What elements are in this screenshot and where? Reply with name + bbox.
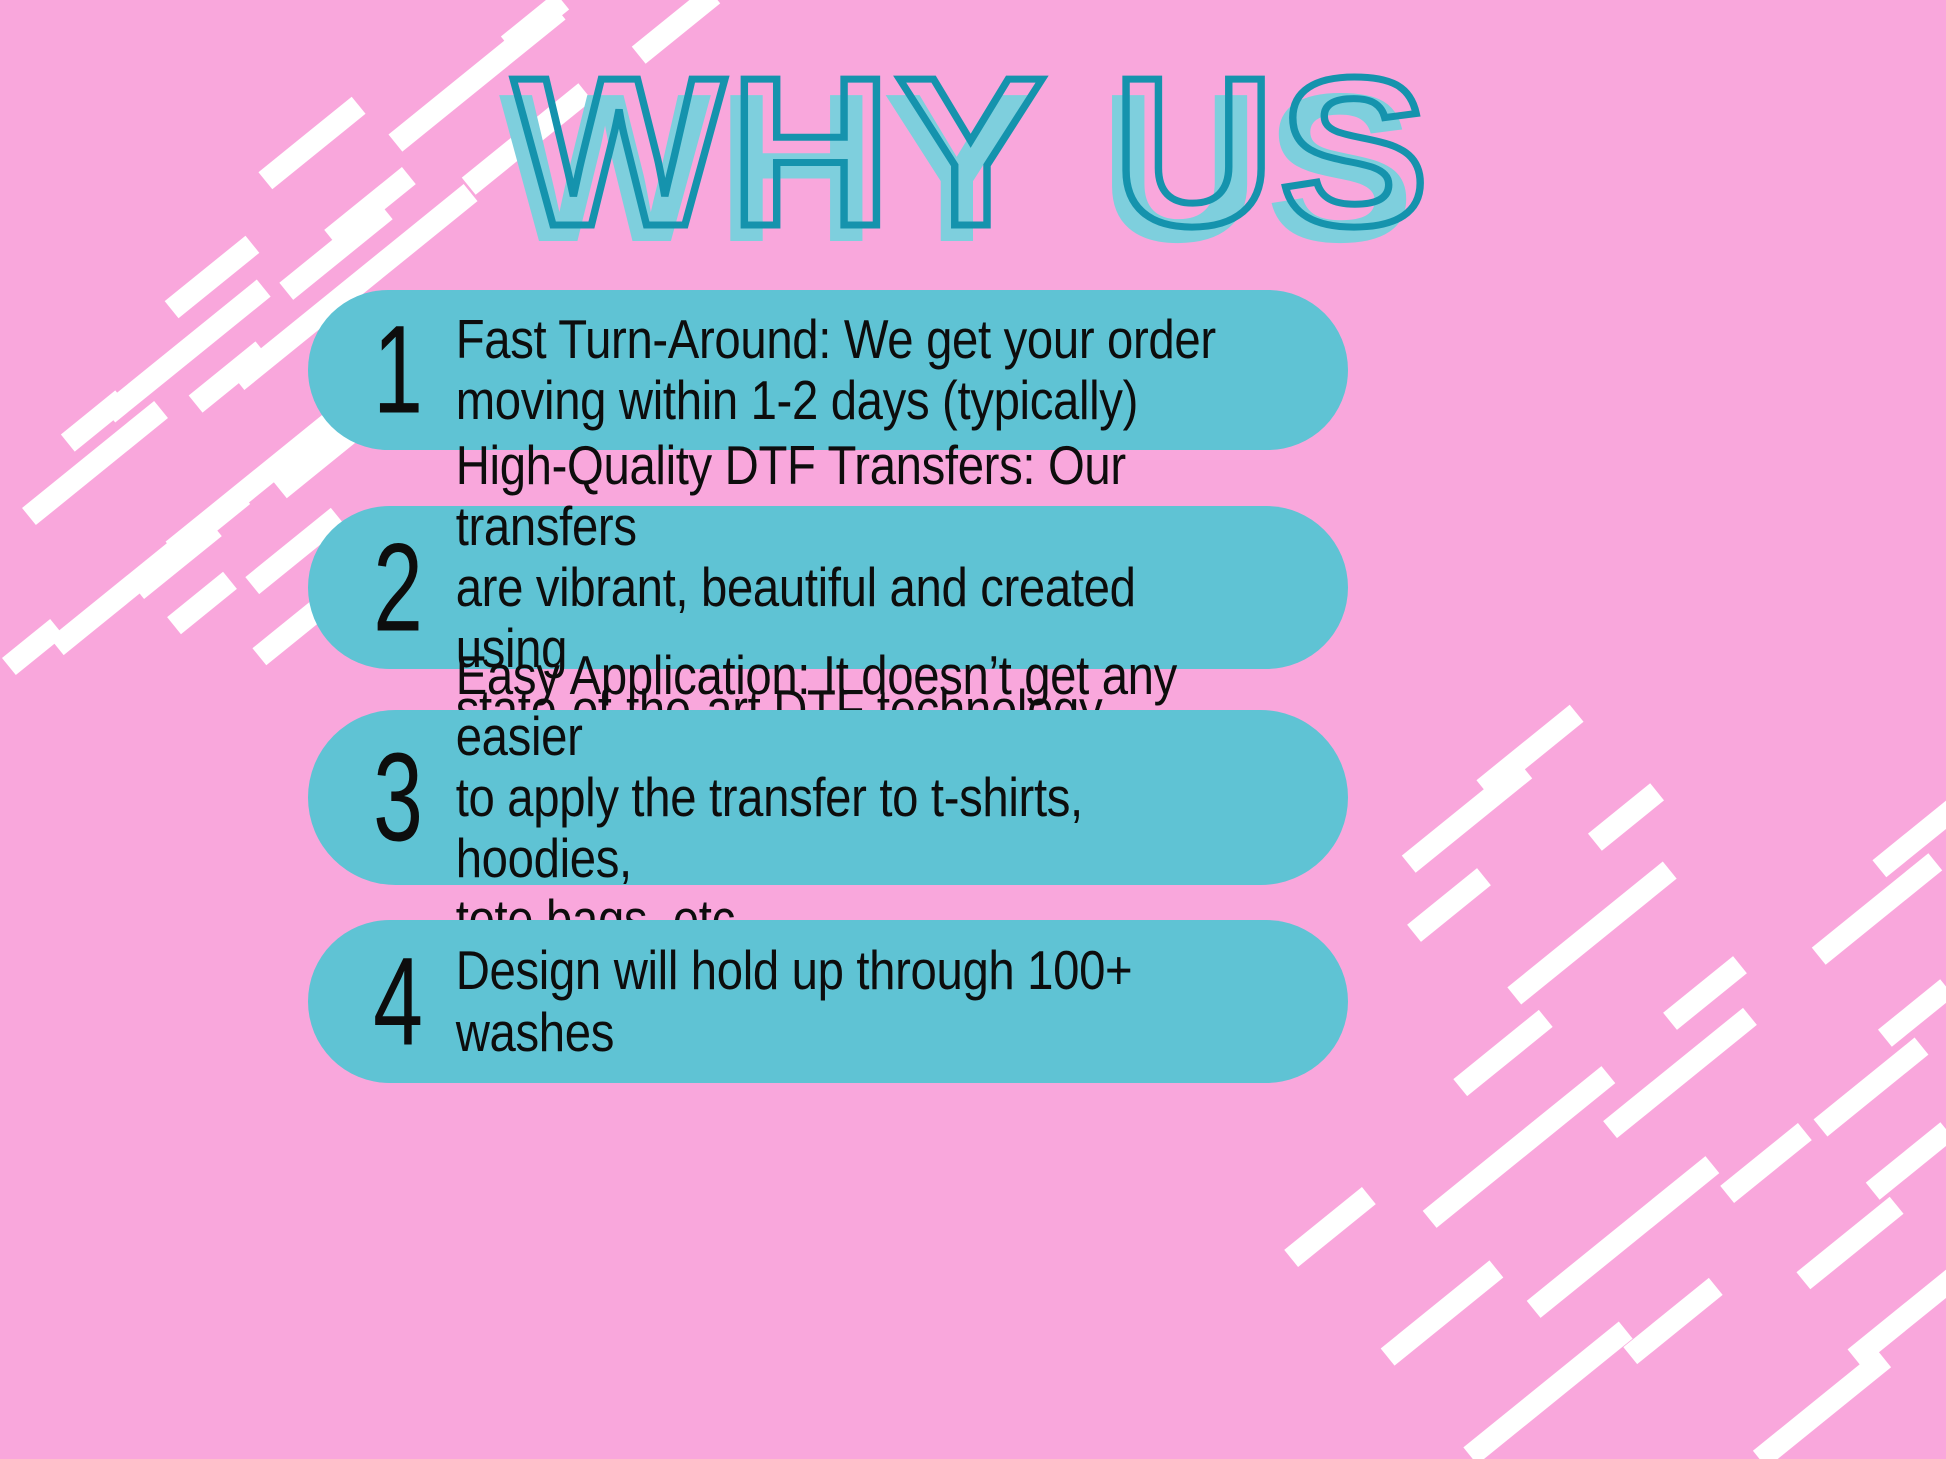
stripe-dash <box>1848 1268 1946 1367</box>
stripe-dash <box>1507 862 1676 1005</box>
stripe-dash <box>1720 1123 1812 1203</box>
list-item: 4 Design will hold up through 100+ washe… <box>308 920 1348 1083</box>
stripe-dash <box>324 167 416 247</box>
stripe-dash <box>1866 1122 1946 1200</box>
stripe-dash <box>632 0 720 64</box>
stripe-dash <box>22 401 168 525</box>
stripe-dash <box>1812 853 1942 964</box>
list-item-text: Fast Turn-Around: We get your order movi… <box>454 309 1216 431</box>
stripe-dash <box>130 519 222 599</box>
list-item-text: Easy Application: It doesn’t get any eas… <box>454 645 1223 950</box>
poster-canvas: WHY US WHY US 1 Fast Turn-Around: We get… <box>0 0 1946 1459</box>
stripe-dash <box>166 403 351 559</box>
stripe-dash <box>165 236 260 319</box>
stripe-dash <box>1878 979 1946 1046</box>
list-item-number: 3 <box>353 735 443 860</box>
page-title-shadow: WHY US <box>499 62 1419 274</box>
stripe-dash <box>388 2 565 151</box>
stripe-dash <box>167 572 237 634</box>
stripe-dash <box>2 619 64 675</box>
page-title: WHY US WHY US <box>0 46 1946 258</box>
stripe-dash <box>1453 1010 1552 1096</box>
stripe-dash <box>50 487 250 655</box>
stripe-dash <box>1407 868 1491 942</box>
stripe-dash <box>1663 956 1747 1030</box>
list-item-text: Design will hold up through 100+ washes <box>454 940 1223 1062</box>
stripe-dash <box>101 280 270 423</box>
page-title-text: WHY US <box>513 46 1433 258</box>
list-item-number: 2 <box>353 525 443 650</box>
stripe-dash <box>1814 1038 1929 1137</box>
stripe-dash <box>1872 785 1946 878</box>
stripe-dash <box>1623 1278 1722 1364</box>
stripe-dash <box>189 341 270 412</box>
stripe-dash <box>1284 1187 1376 1267</box>
stripe-dash <box>1527 1156 1720 1318</box>
stripe-dash <box>258 97 365 190</box>
list-item-number: 4 <box>353 939 443 1064</box>
stripe-dash <box>462 83 592 194</box>
list-item: 3 Easy Application: It doesn’t get any e… <box>308 710 1348 885</box>
stripe-dash <box>1476 705 1583 798</box>
stripe-dash <box>1402 761 1532 872</box>
stripe-dash <box>1381 1260 1504 1365</box>
list-item-number: 1 <box>353 307 443 432</box>
stripe-dash <box>61 390 129 451</box>
stripe-dash <box>1463 1322 1632 1459</box>
stripe-dash <box>1588 783 1664 850</box>
stripe-dash <box>1753 1350 1891 1459</box>
stripe-dash <box>1796 1197 1903 1290</box>
stripe-dash <box>501 0 569 54</box>
stripe-dash <box>279 202 392 300</box>
stripe-dash <box>1423 1066 1616 1228</box>
stripe-dash <box>1603 1008 1757 1138</box>
list-item: 1 Fast Turn-Around: We get your order mo… <box>308 290 1348 450</box>
